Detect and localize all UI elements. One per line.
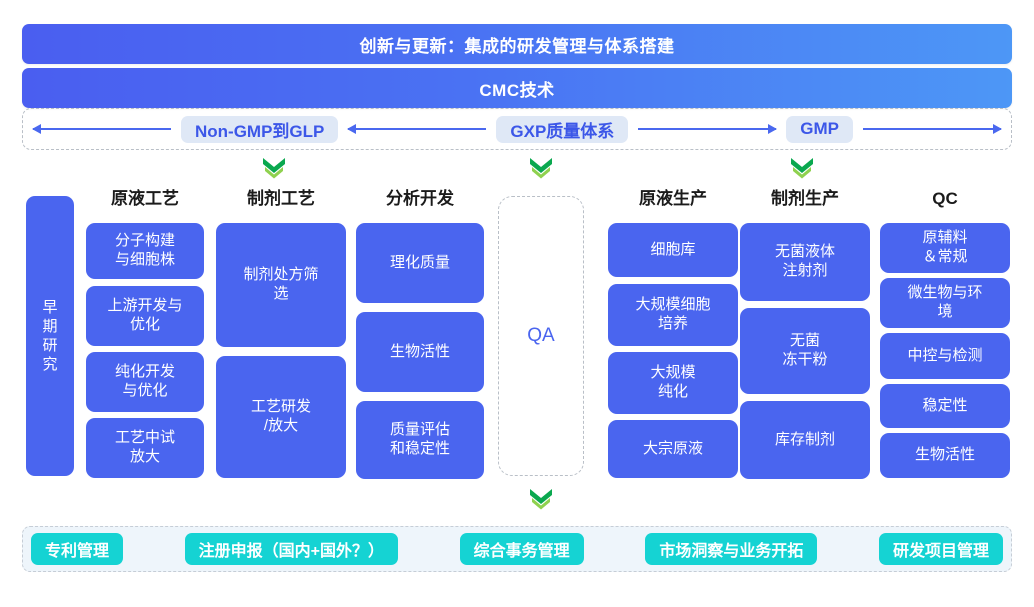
arrow-left-icon-2 bbox=[348, 128, 486, 130]
cell-stability[interactable]: 稳定性 bbox=[880, 384, 1010, 428]
cell-line: 中控与检测 bbox=[907, 347, 982, 366]
qa-column: QA bbox=[498, 196, 584, 476]
cell-line: 原辅料 bbox=[922, 229, 967, 248]
double-chevron-down-icon-upstream bbox=[261, 156, 287, 180]
cell-line: 上游开发与 bbox=[107, 297, 182, 316]
gxp-flow-strip: Non-GMP到GLP GXP质量体系 GMP bbox=[22, 108, 1012, 150]
cell-raw-materials-routine[interactable]: 原辅料＆常规 bbox=[880, 223, 1010, 273]
cell-microbiology-environment[interactable]: 微生物与环境 bbox=[880, 278, 1010, 328]
support-item-rd-project-management[interactable]: 研发项目管理 bbox=[879, 533, 1003, 565]
cell-molecule-construction[interactable]: 分子构建与细胞株 bbox=[86, 223, 204, 279]
cell-line: 与优化 bbox=[115, 382, 175, 401]
cell-line: 细胞库 bbox=[650, 241, 695, 260]
early-research-char-2: 期 bbox=[42, 317, 57, 336]
column-analytical-development: 分析开发 理化质量 生物活性 质量评估和稳定性 bbox=[356, 185, 484, 492]
banner-title-secondary: CMC技术 bbox=[22, 68, 1012, 108]
cell-pilot-scale-up[interactable]: 工艺中试放大 bbox=[86, 418, 204, 478]
column-qc: QC 原辅料＆常规 微生物与环境 中控与检测 稳定性 生物活性 bbox=[880, 185, 1010, 492]
double-chevron-down-icon-qa bbox=[528, 156, 554, 180]
column-title: 原液工艺 bbox=[86, 185, 204, 212]
cell-line: 理化质量 bbox=[390, 254, 450, 273]
banner-title-primary: 创新与更新：集成的研发管理与体系搭建 bbox=[22, 24, 1012, 64]
cell-line: 注射剂 bbox=[775, 262, 835, 281]
cell-line: 库存制剂 bbox=[775, 431, 835, 450]
cell-line: 生物活性 bbox=[915, 446, 975, 465]
support-functions-strip: 专利管理 注册申报（国内+国外？） 综合事务管理 市场洞察与业务开拓 研发项目管… bbox=[22, 526, 1012, 572]
early-research-char-4: 究 bbox=[42, 355, 57, 374]
cell-line: 生物活性 bbox=[390, 343, 450, 362]
support-item-general-affairs[interactable]: 综合事务管理 bbox=[460, 533, 584, 565]
column-bulk-drug-substance-process: 原液工艺 分子构建与细胞株 上游开发与优化 纯化开发与优化 工艺中试放大 bbox=[86, 185, 204, 492]
cell-line: 选 bbox=[243, 285, 318, 304]
cell-line: 与细胞株 bbox=[115, 251, 175, 270]
cell-large-scale-cell-culture[interactable]: 大规模细胞培养 bbox=[608, 284, 738, 346]
gxp-pill-gxp-quality-system[interactable]: GXP质量体系 bbox=[496, 116, 628, 143]
cell-process-development-scaleup[interactable]: 工艺研发/放大 bbox=[216, 356, 346, 478]
cell-line: 纯化 bbox=[650, 383, 695, 402]
cell-line: /放大 bbox=[251, 417, 311, 436]
cell-line: 境 bbox=[907, 303, 982, 322]
cell-line: 培养 bbox=[635, 315, 710, 334]
cell-line: 无菌液体 bbox=[775, 243, 835, 262]
cell-line: 大宗原液 bbox=[643, 440, 703, 459]
cell-biological-activity-qc[interactable]: 生物活性 bbox=[880, 433, 1010, 478]
cell-large-scale-purification[interactable]: 大规模纯化 bbox=[608, 352, 738, 414]
cell-sterile-liquid-injection[interactable]: 无菌液体注射剂 bbox=[740, 223, 870, 301]
gxp-pill-non-gmp-to-glp[interactable]: Non-GMP到GLP bbox=[181, 116, 338, 143]
cell-line: ＆常规 bbox=[922, 248, 967, 267]
cell-physicochemical-quality[interactable]: 理化质量 bbox=[356, 223, 484, 303]
cell-line: 工艺中试 bbox=[115, 429, 175, 448]
cell-upstream-development[interactable]: 上游开发与优化 bbox=[86, 286, 204, 346]
cell-line: 无菌 bbox=[782, 332, 827, 351]
diagram-canvas: 创新与更新：集成的研发管理与体系搭建 CMC技术 Non-GMP到GLP GXP… bbox=[0, 0, 1034, 607]
qa-label: QA bbox=[527, 325, 554, 347]
cell-stocked-drug-product[interactable]: 库存制剂 bbox=[740, 401, 870, 479]
cell-line: 冻干粉 bbox=[782, 351, 827, 370]
cell-line: 分子构建 bbox=[115, 232, 175, 251]
cell-line: 大规模 bbox=[650, 364, 695, 383]
column-title: QC bbox=[880, 185, 1010, 212]
cell-line: 稳定性 bbox=[922, 397, 967, 416]
cell-line: 工艺研发 bbox=[251, 398, 311, 417]
cell-in-process-control-testing[interactable]: 中控与检测 bbox=[880, 333, 1010, 379]
column-title: 分析开发 bbox=[356, 185, 484, 212]
double-chevron-down-icon-downstream bbox=[789, 156, 815, 180]
early-research-bar: 早 期 研 究 bbox=[26, 196, 74, 476]
cell-purification-development[interactable]: 纯化开发与优化 bbox=[86, 352, 204, 412]
arrow-right-icon-2 bbox=[863, 128, 1001, 130]
cell-line: 纯化开发 bbox=[115, 363, 175, 382]
cell-line: 和稳定性 bbox=[390, 440, 450, 459]
cell-line: 放大 bbox=[115, 448, 175, 467]
support-item-market-insight-bd[interactable]: 市场洞察与业务开拓 bbox=[645, 533, 817, 565]
column-title: 原液生产 bbox=[608, 185, 738, 212]
column-drug-product-manufacturing: 制剂生产 无菌液体注射剂 无菌冻干粉 库存制剂 bbox=[740, 185, 870, 492]
column-title: 制剂工艺 bbox=[216, 185, 346, 212]
support-item-registration-filing[interactable]: 注册申报（国内+国外？） bbox=[185, 533, 398, 565]
arrow-right-icon-1 bbox=[638, 128, 776, 130]
support-item-patent-management[interactable]: 专利管理 bbox=[31, 533, 123, 565]
cell-quality-assessment-stability[interactable]: 质量评估和稳定性 bbox=[356, 401, 484, 479]
cell-line: 制剂处方筛 bbox=[243, 266, 318, 285]
column-bulk-drug-substance-manufacturing: 原液生产 细胞库 大规模细胞培养 大规模纯化 大宗原液 bbox=[608, 185, 738, 492]
gxp-pill-gmp[interactable]: GMP bbox=[786, 116, 853, 143]
cell-sterile-lyophilized-powder[interactable]: 无菌冻干粉 bbox=[740, 308, 870, 394]
cell-line: 优化 bbox=[107, 316, 182, 335]
cell-biological-activity[interactable]: 生物活性 bbox=[356, 312, 484, 392]
cell-line: 质量评估 bbox=[390, 421, 450, 440]
cell-formulation-screening[interactable]: 制剂处方筛选 bbox=[216, 223, 346, 347]
cell-cell-bank[interactable]: 细胞库 bbox=[608, 223, 738, 277]
early-research-char-1: 早 bbox=[42, 298, 57, 317]
column-title: 制剂生产 bbox=[740, 185, 870, 212]
cell-line: 大规模细胞 bbox=[635, 296, 710, 315]
cell-line: 微生物与环 bbox=[907, 284, 982, 303]
double-chevron-down-icon-support bbox=[528, 487, 554, 511]
early-research-char-3: 研 bbox=[42, 336, 57, 355]
cell-bulk-drug-substance[interactable]: 大宗原液 bbox=[608, 420, 738, 478]
arrow-left-icon-1 bbox=[33, 128, 171, 130]
column-drug-product-process: 制剂工艺 制剂处方筛选 工艺研发/放大 bbox=[216, 185, 346, 492]
